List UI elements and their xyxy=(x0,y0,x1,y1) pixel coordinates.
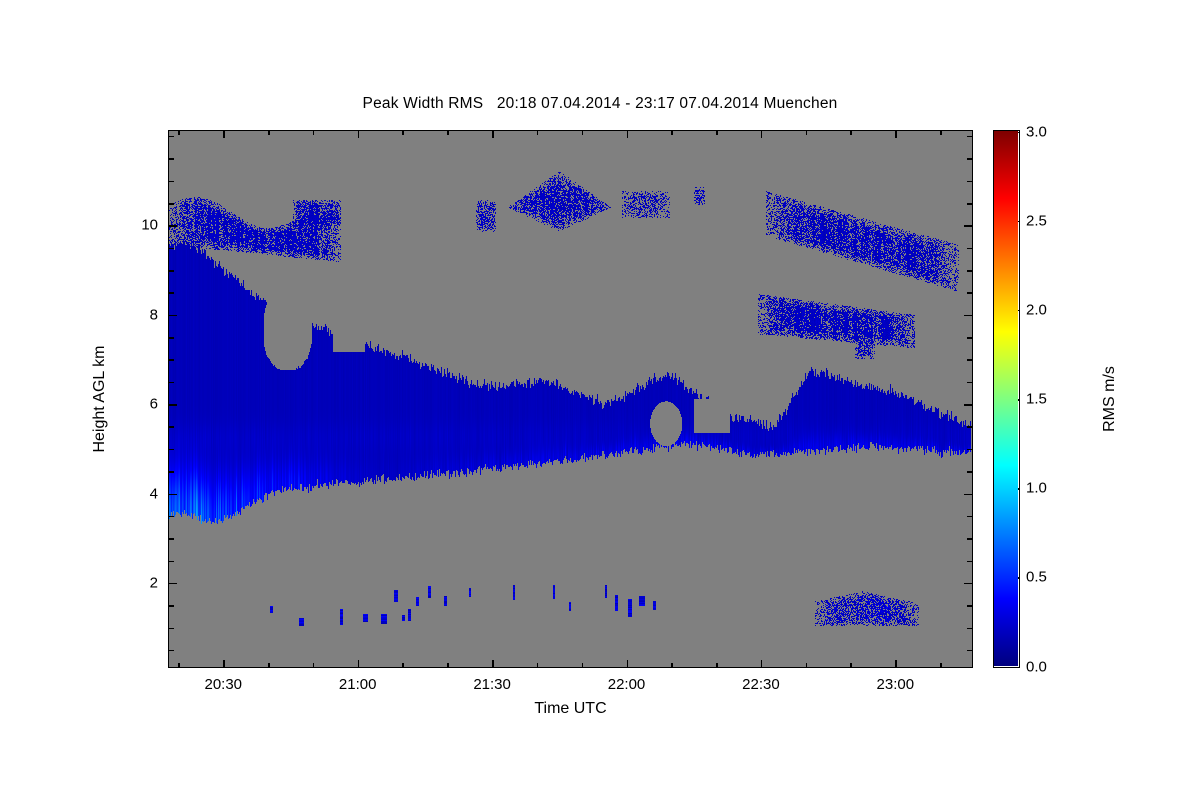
y-tick-minor xyxy=(169,561,174,563)
y-tick-minor xyxy=(169,136,174,138)
y-tick-major-right xyxy=(964,583,972,585)
colorbar-tick-label: 2.5 xyxy=(1026,212,1047,229)
x-tick-label: 22:30 xyxy=(742,676,780,693)
figure-canvas: Peak Width RMS 20:18 07.04.2014 - 23:17 … xyxy=(0,0,1200,800)
x-tick-minor-top xyxy=(402,131,404,135)
x-tick-minor-top xyxy=(537,131,539,135)
colorbar-tick-label: 1.0 xyxy=(1026,480,1047,497)
x-tick-label: 21:00 xyxy=(339,676,377,693)
y-tick-label: 8 xyxy=(120,306,158,323)
y-tick-minor-right xyxy=(967,270,972,272)
colorbar[interactable] xyxy=(993,130,1020,668)
x-tick-major-top xyxy=(761,131,763,138)
y-tick-minor xyxy=(169,292,174,294)
y-tick-major xyxy=(169,404,177,406)
colorbar-title: RMS m/s xyxy=(1101,299,1119,499)
x-tick-major xyxy=(358,660,360,667)
y-tick-minor-right xyxy=(967,605,972,607)
x-tick-major-top xyxy=(358,131,360,138)
y-tick-minor xyxy=(169,337,174,339)
x-tick-minor xyxy=(582,663,584,667)
x-tick-minor-top xyxy=(582,131,584,135)
y-tick-minor-right xyxy=(967,516,972,518)
y-tick-minor-right xyxy=(967,538,972,540)
y-tick-minor-right xyxy=(967,136,972,138)
x-tick-minor xyxy=(268,663,270,667)
y-tick-minor xyxy=(169,270,174,272)
y-tick-minor xyxy=(169,628,174,630)
y-tick-minor xyxy=(169,426,174,428)
y-tick-minor xyxy=(169,516,174,518)
x-axis-title: Time UTC xyxy=(168,700,973,718)
y-tick-label: 6 xyxy=(120,396,158,413)
colorbar-tick-label: 3.0 xyxy=(1026,123,1047,140)
x-tick-minor xyxy=(402,663,404,667)
y-axis-title: Height AGL km xyxy=(91,299,109,499)
x-tick-major xyxy=(627,660,629,667)
y-tick-minor-right xyxy=(967,337,972,339)
y-tick-major-right xyxy=(964,315,972,317)
y-tick-minor-right xyxy=(967,248,972,250)
y-tick-minor xyxy=(169,538,174,540)
y-tick-major xyxy=(169,494,177,496)
x-tick-major-top xyxy=(223,131,225,138)
y-tick-minor-right xyxy=(967,181,972,183)
x-tick-minor xyxy=(178,663,180,667)
x-tick-minor-top xyxy=(313,131,315,135)
y-tick-minor xyxy=(169,359,174,361)
page-title: Peak Width RMS 20:18 07.04.2014 - 23:17 … xyxy=(0,95,1200,113)
y-tick-minor xyxy=(169,181,174,183)
x-tick-major xyxy=(223,660,225,667)
y-tick-minor-right xyxy=(967,292,972,294)
x-tick-label: 23:00 xyxy=(877,676,915,693)
y-tick-minor-right xyxy=(967,203,972,205)
y-tick-minor xyxy=(169,203,174,205)
y-tick-minor-right xyxy=(967,449,972,451)
y-tick-minor-right xyxy=(967,426,972,428)
x-tick-minor-top xyxy=(447,131,449,135)
y-tick-minor xyxy=(169,158,174,160)
y-tick-label: 4 xyxy=(120,485,158,502)
y-tick-minor xyxy=(169,471,174,473)
x-tick-label: 21:30 xyxy=(473,676,511,693)
y-tick-label: 10 xyxy=(120,217,158,234)
x-tick-major xyxy=(761,660,763,667)
y-tick-minor xyxy=(169,248,174,250)
x-tick-minor xyxy=(806,663,808,667)
y-tick-major xyxy=(169,315,177,317)
y-tick-major-right xyxy=(964,494,972,496)
y-tick-minor-right xyxy=(967,561,972,563)
y-tick-minor-right xyxy=(967,158,972,160)
x-tick-major-top xyxy=(627,131,629,138)
y-tick-major-right xyxy=(964,225,972,227)
x-tick-minor-top xyxy=(268,131,270,135)
x-tick-label: 20:30 xyxy=(204,676,242,693)
x-tick-major xyxy=(895,660,897,667)
colorbar-tick-label: 1.5 xyxy=(1026,391,1047,408)
x-tick-minor-top xyxy=(716,131,718,135)
y-tick-label: 2 xyxy=(120,574,158,591)
y-tick-minor-right xyxy=(967,471,972,473)
heatmap-image xyxy=(169,131,971,666)
x-tick-major-top xyxy=(895,131,897,138)
x-tick-minor xyxy=(671,663,673,667)
y-tick-major xyxy=(169,225,177,227)
x-tick-minor-top xyxy=(178,131,180,135)
x-tick-minor xyxy=(537,663,539,667)
y-tick-minor-right xyxy=(967,650,972,652)
y-tick-minor-right xyxy=(967,382,972,384)
heatmap-plot-area[interactable] xyxy=(168,130,973,668)
y-tick-major-right xyxy=(964,404,972,406)
y-tick-minor-right xyxy=(967,359,972,361)
x-tick-minor-top xyxy=(806,131,808,135)
y-tick-minor xyxy=(169,382,174,384)
y-tick-minor xyxy=(169,605,174,607)
x-tick-minor-top xyxy=(940,131,942,135)
x-tick-minor xyxy=(716,663,718,667)
y-tick-minor xyxy=(169,650,174,652)
x-tick-minor xyxy=(940,663,942,667)
colorbar-tick-label: 0.0 xyxy=(1026,658,1047,675)
x-tick-minor-top xyxy=(671,131,673,135)
x-tick-minor xyxy=(447,663,449,667)
y-tick-minor xyxy=(169,449,174,451)
colorbar-tick-label: 0.5 xyxy=(1026,569,1047,586)
x-tick-minor-top xyxy=(850,131,852,135)
y-tick-minor-right xyxy=(967,628,972,630)
colorbar-tick-label: 2.0 xyxy=(1026,301,1047,318)
x-tick-label: 22:00 xyxy=(608,676,646,693)
y-tick-major xyxy=(169,583,177,585)
x-tick-minor xyxy=(850,663,852,667)
x-tick-major-top xyxy=(492,131,494,138)
x-tick-major xyxy=(492,660,494,667)
colorbar-gradient xyxy=(994,131,1018,666)
x-tick-minor xyxy=(313,663,315,667)
